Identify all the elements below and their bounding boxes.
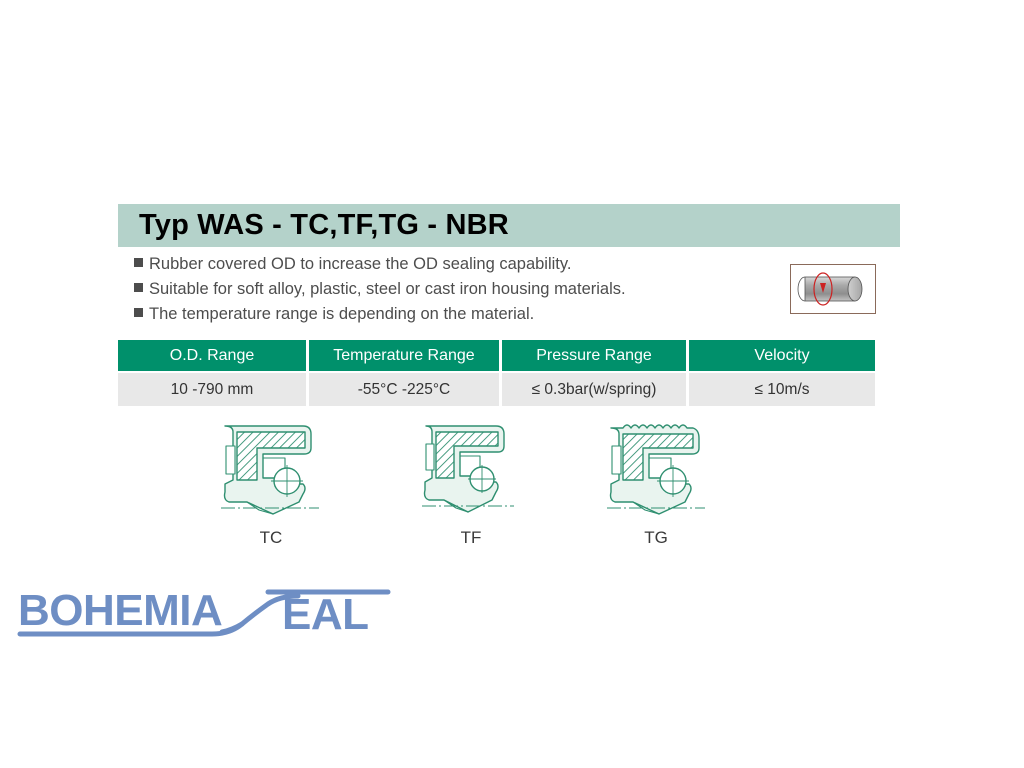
column-header-velocity: Velocity xyxy=(689,340,875,371)
feature-text: Suitable for soft alloy, plastic, steel … xyxy=(149,281,626,298)
logo-word-bohemia: BOHEMIA xyxy=(18,586,222,635)
column-header-temperature-range: Temperature Range xyxy=(309,340,499,371)
logo-swoosh-tail xyxy=(222,624,242,632)
seal-label-tc: TC xyxy=(241,528,301,548)
title-banner: Typ WAS - TC,TF,TG - NBR xyxy=(118,204,900,247)
square-bullet-icon xyxy=(134,308,143,317)
column-header-pressure-range: Pressure Range xyxy=(502,340,686,371)
feature-item: The temperature range is depending on th… xyxy=(134,306,774,331)
table-header-row: O.D. Range Temperature Range Pressure Ra… xyxy=(118,340,875,371)
value-temperature-range: -55°C -225°C xyxy=(309,373,499,406)
table-data-row: 10 -790 mm -55°C -225°C ≤ 0.3bar(w/sprin… xyxy=(118,373,875,406)
value-od-range: 10 -790 mm xyxy=(118,373,306,406)
column-header-od-range: O.D. Range xyxy=(118,340,306,371)
feature-item: Rubber covered OD to increase the OD sea… xyxy=(134,256,774,281)
rotating-shaft-icon xyxy=(790,264,876,314)
logo-word-eal: EAL xyxy=(282,590,369,639)
seal-label-tf: TF xyxy=(441,528,501,548)
feature-text: Rubber covered OD to increase the OD sea… xyxy=(149,256,572,273)
seal-label-tg: TG xyxy=(626,528,686,548)
specification-table: O.D. Range Temperature Range Pressure Ra… xyxy=(118,340,875,406)
feature-item: Suitable for soft alloy, plastic, steel … xyxy=(134,281,774,306)
square-bullet-icon xyxy=(134,283,143,292)
square-bullet-icon xyxy=(134,258,143,267)
value-velocity: ≤ 10m/s xyxy=(689,373,875,406)
feature-list: Rubber covered OD to increase the OD sea… xyxy=(134,256,774,331)
feature-text: The temperature range is depending on th… xyxy=(149,306,534,323)
bohemia-seal-logo: BOHEMIA EAL xyxy=(16,582,416,640)
value-pressure-range: ≤ 0.3bar(w/spring) xyxy=(502,373,686,406)
page-title: Typ WAS - TC,TF,TG - NBR xyxy=(139,209,509,242)
